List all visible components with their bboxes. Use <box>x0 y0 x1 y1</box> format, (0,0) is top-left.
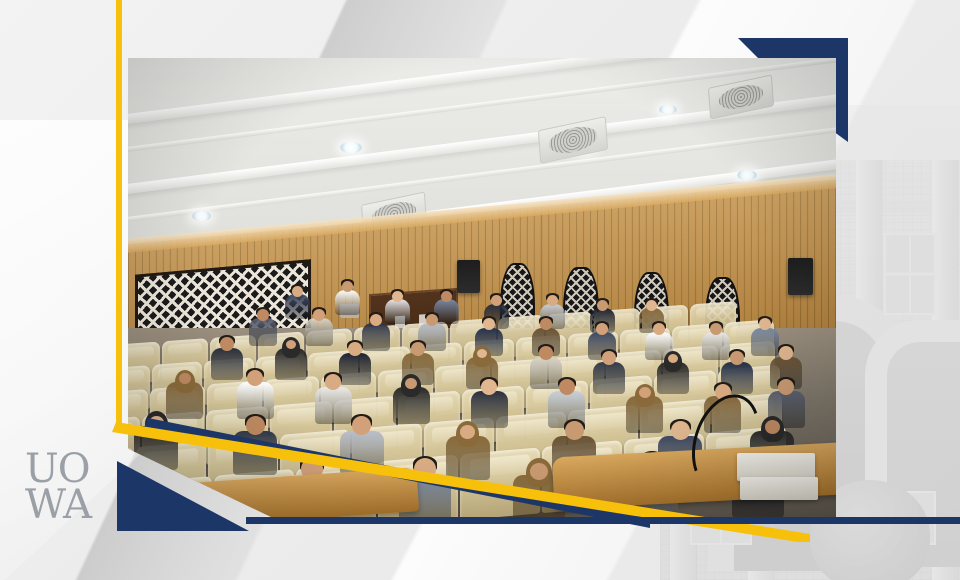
navy-triangle-accent <box>117 461 249 531</box>
yellow-vertical-accent <box>116 0 122 430</box>
audience-face <box>348 342 362 356</box>
audience-face <box>247 370 263 386</box>
navy-bottom-rule <box>246 517 960 524</box>
audience-face <box>597 300 608 311</box>
audience-torso <box>285 294 310 319</box>
audience-face <box>257 309 269 321</box>
audience-face <box>179 373 191 384</box>
audience-face <box>539 346 553 360</box>
audience-face <box>559 379 575 395</box>
audience-face <box>481 379 497 395</box>
audience-torso <box>530 357 562 389</box>
audience-torso <box>751 328 779 356</box>
audience-face <box>370 314 382 326</box>
audience-torso <box>211 348 243 380</box>
audience-face <box>286 340 296 349</box>
audience-torso <box>249 318 277 346</box>
audience-torso <box>305 318 333 346</box>
uowa-logo: UO WA <box>25 452 115 532</box>
audience-face <box>491 295 502 306</box>
watermark-window <box>884 233 936 315</box>
audience-torso <box>335 290 360 315</box>
audience-face <box>730 351 744 365</box>
logo-line-1: UO <box>25 452 115 486</box>
audience-face <box>710 323 722 335</box>
audience-torso <box>593 362 625 394</box>
audience-face <box>411 342 425 356</box>
audience-torso <box>385 299 410 324</box>
audience-face <box>220 337 234 351</box>
wall-speaker <box>457 260 480 293</box>
audience-face <box>653 323 665 335</box>
wall-speaker <box>788 258 813 295</box>
audience-torso <box>339 353 371 385</box>
logo-line-2: WA <box>25 488 115 522</box>
banner-canvas: UO WA <box>0 0 960 580</box>
audience-torso <box>702 332 730 360</box>
ceiling-downlight <box>737 170 757 180</box>
audience-face <box>405 378 417 389</box>
audience-face <box>639 387 651 398</box>
audience-torso <box>362 323 390 351</box>
audience-face <box>392 291 403 302</box>
audience-face <box>441 291 452 302</box>
ceiling-downlight <box>659 105 677 114</box>
